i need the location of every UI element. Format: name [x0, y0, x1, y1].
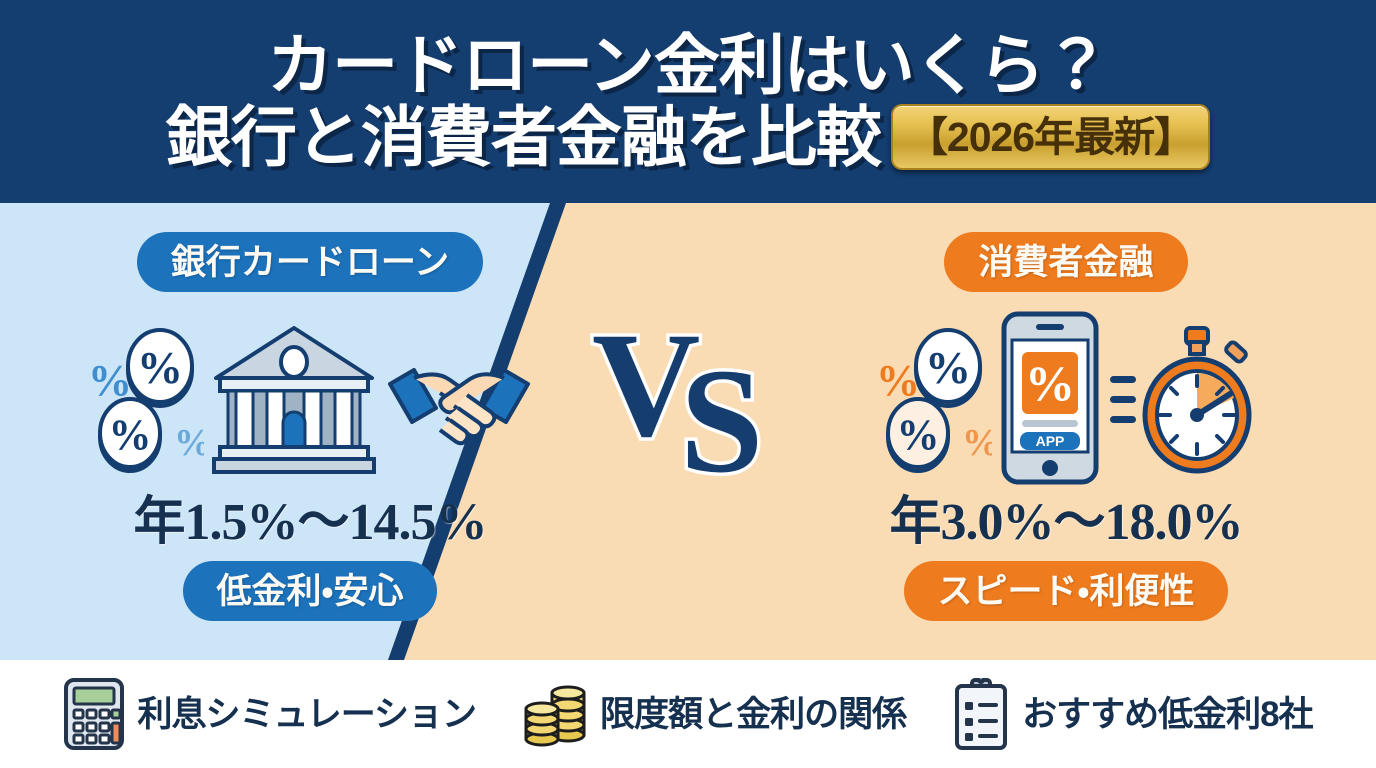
footer-item-recommended-companies[interactable]: おすすめ低金利8社: [952, 676, 1312, 752]
page-title-line1: カードローン金利はいくら？: [267, 31, 1109, 101]
bank-building-icon: [210, 318, 378, 478]
comparison-panels: 銀行カードローン % % % %: [0, 203, 1376, 660]
svg-text:%: %: [1025, 355, 1075, 411]
svg-text:%: %: [174, 422, 204, 464]
footer-item-limit-and-rate[interactable]: 限度額と金利の関係: [522, 677, 906, 751]
right-title-pill: 消費者金融: [944, 232, 1187, 292]
calculator-icon: [63, 677, 125, 751]
header-banner: カードローン金利はいくら？ 銀行と消費者金融を比較 【2026年最新】: [0, 0, 1376, 203]
handshake-icon: [384, 338, 534, 458]
header-content: カードローン金利はいくら？ 銀行と消費者金融を比較 【2026年最新】: [0, 0, 1376, 203]
year-badge-label: 【2026年最新】: [907, 117, 1194, 158]
panel-consumer-finance: 消費者金融 % % % %: [756, 203, 1376, 660]
left-title-label: 銀行カードローン: [171, 245, 449, 280]
svg-text:%: %: [897, 412, 940, 459]
right-title-label: 消費者金融: [978, 245, 1153, 280]
left-feature-pill: 低金利・安心: [183, 561, 438, 621]
footer-item-label: 限度額と金利の関係: [600, 697, 906, 732]
percent-coins-icon: % % % %: [86, 323, 204, 473]
svg-text:%: %: [925, 342, 971, 393]
right-rate-value: 年3.0%〜18.0%: [889, 497, 1242, 549]
svg-text:%: %: [109, 412, 152, 459]
footer-item-label: おすすめ低金利8社: [1022, 697, 1312, 732]
percent-coins-icon: % % % %: [874, 323, 992, 473]
svg-text:%: %: [137, 342, 183, 393]
year-badge: 【2026年最新】: [891, 104, 1210, 170]
right-feature-label: スピード・利便性: [938, 574, 1195, 609]
left-title-pill: 銀行カードローン: [137, 232, 483, 292]
app-badge-label: APP: [1036, 433, 1065, 449]
infographic-root: カードローン金利はいくら？ 銀行と消費者金融を比較 【2026年最新】 銀行カー…: [0, 0, 1376, 768]
footer-item-label: 利息シミュレーション: [137, 697, 476, 732]
panel-bank-cardloan: 銀行カードローン % % % %: [0, 203, 620, 660]
footer-topics-bar: 利息シミュレーション: [0, 660, 1376, 768]
footer-item-interest-simulation[interactable]: 利息シミュレーション: [63, 677, 476, 751]
left-feature-label: 低金利・安心: [217, 574, 404, 609]
left-icon-row: % % % %: [86, 310, 534, 485]
left-rate-value: 年1.5%〜14.5%: [133, 497, 486, 549]
clipboard-list-icon: [952, 676, 1010, 752]
page-title-line2: 銀行と消費者金融を比較: [166, 103, 881, 173]
right-feature-pill: スピード・利便性: [904, 561, 1229, 621]
svg-text:%: %: [962, 422, 992, 464]
page-title-row2: 銀行と消費者金融を比較 【2026年最新】: [166, 103, 1210, 173]
smartphone-app-icon: % APP: [998, 310, 1102, 486]
coins-stack-icon: [522, 677, 588, 751]
right-icon-row: % % % %: [874, 310, 1258, 485]
stopwatch-icon: [1108, 318, 1258, 478]
